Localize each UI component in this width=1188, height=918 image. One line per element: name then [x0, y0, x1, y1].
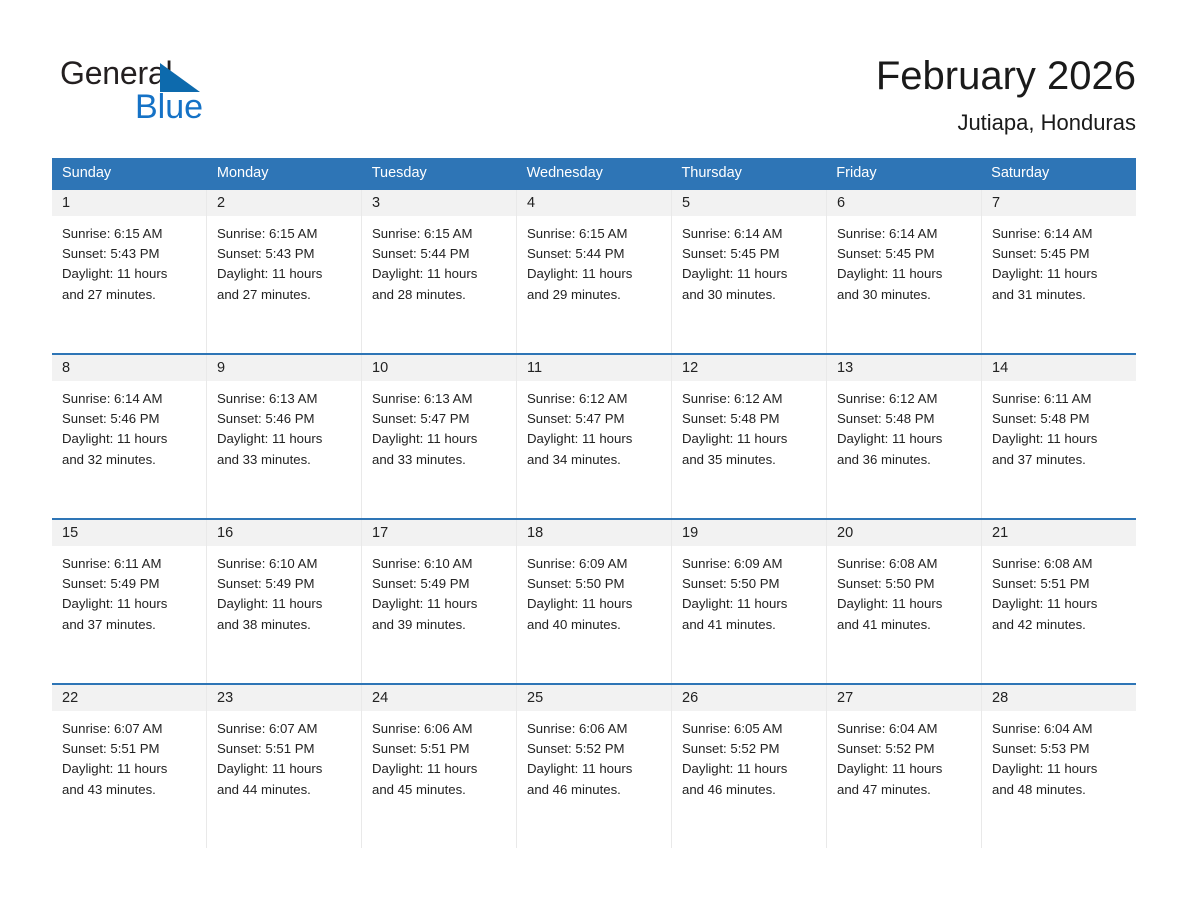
day-cell[interactable]: 16Sunrise: 6:10 AMSunset: 5:49 PMDayligh…	[207, 520, 362, 683]
daylight-text-line1: Daylight: 11 hours	[992, 429, 1128, 449]
sunrise-text: Sunrise: 6:07 AM	[217, 719, 353, 739]
day-cell[interactable]: 18Sunrise: 6:09 AMSunset: 5:50 PMDayligh…	[517, 520, 672, 683]
day-number-band: 10	[362, 355, 516, 381]
sunrise-text: Sunrise: 6:04 AM	[992, 719, 1128, 739]
day-cell[interactable]: 28Sunrise: 6:04 AMSunset: 5:53 PMDayligh…	[982, 685, 1136, 848]
sunset-text: Sunset: 5:51 PM	[217, 739, 353, 759]
sunrise-text: Sunrise: 6:15 AM	[62, 224, 198, 244]
sunrise-text: Sunrise: 6:07 AM	[62, 719, 198, 739]
sunrise-text: Sunrise: 6:06 AM	[527, 719, 663, 739]
day-number-band: 22	[52, 685, 206, 711]
day-number-band: 15	[52, 520, 206, 546]
daylight-text-line1: Daylight: 11 hours	[992, 594, 1128, 614]
daylight-text-line1: Daylight: 11 hours	[527, 264, 663, 284]
day-info: Sunrise: 6:14 AMSunset: 5:45 PMDaylight:…	[827, 216, 981, 305]
day-number: 26	[672, 685, 826, 711]
sunset-text: Sunset: 5:44 PM	[372, 244, 508, 264]
sunset-text: Sunset: 5:43 PM	[217, 244, 353, 264]
weekday-header-saturday: Saturday	[981, 158, 1136, 188]
daylight-text-line2: and 46 minutes.	[682, 780, 818, 800]
daylight-text-line1: Daylight: 11 hours	[62, 594, 198, 614]
day-cell[interactable]: 12Sunrise: 6:12 AMSunset: 5:48 PMDayligh…	[672, 355, 827, 518]
daylight-text-line1: Daylight: 11 hours	[217, 759, 353, 779]
day-number-band: 9	[207, 355, 361, 381]
daylight-text-line2: and 27 minutes.	[62, 285, 198, 305]
sunset-text: Sunset: 5:48 PM	[682, 409, 818, 429]
day-number-band: 17	[362, 520, 516, 546]
day-cell[interactable]: 9Sunrise: 6:13 AMSunset: 5:46 PMDaylight…	[207, 355, 362, 518]
daylight-text-line2: and 35 minutes.	[682, 450, 818, 470]
day-number: 5	[672, 190, 826, 216]
title-block: February 2026 Jutiapa, Honduras	[876, 50, 1136, 138]
day-info: Sunrise: 6:13 AMSunset: 5:47 PMDaylight:…	[362, 381, 516, 470]
day-number-band: 12	[672, 355, 826, 381]
sunset-text: Sunset: 5:47 PM	[527, 409, 663, 429]
day-cell[interactable]: 7Sunrise: 6:14 AMSunset: 5:45 PMDaylight…	[982, 190, 1136, 353]
day-cell[interactable]: 19Sunrise: 6:09 AMSunset: 5:50 PMDayligh…	[672, 520, 827, 683]
day-cell[interactable]: 21Sunrise: 6:08 AMSunset: 5:51 PMDayligh…	[982, 520, 1136, 683]
day-number: 23	[207, 685, 361, 711]
day-info: Sunrise: 6:09 AMSunset: 5:50 PMDaylight:…	[517, 546, 671, 635]
daylight-text-line2: and 47 minutes.	[837, 780, 973, 800]
daylight-text-line1: Daylight: 11 hours	[837, 759, 973, 779]
page-header: General Blue February 2026 Jutiapa, Hond…	[52, 42, 1136, 152]
day-info: Sunrise: 6:15 AMSunset: 5:43 PMDaylight:…	[207, 216, 361, 305]
sunrise-text: Sunrise: 6:14 AM	[837, 224, 973, 244]
day-number-band: 8	[52, 355, 206, 381]
daylight-text-line1: Daylight: 11 hours	[372, 264, 508, 284]
sunrise-text: Sunrise: 6:04 AM	[837, 719, 973, 739]
daylight-text-line2: and 36 minutes.	[837, 450, 973, 470]
day-number-band: 7	[982, 190, 1136, 216]
daylight-text-line1: Daylight: 11 hours	[372, 594, 508, 614]
day-cell[interactable]: 1Sunrise: 6:15 AMSunset: 5:43 PMDaylight…	[52, 190, 207, 353]
day-number-band: 27	[827, 685, 981, 711]
daylight-text-line1: Daylight: 11 hours	[992, 264, 1128, 284]
day-number-band: 26	[672, 685, 826, 711]
day-number-band: 11	[517, 355, 671, 381]
day-number-band: 5	[672, 190, 826, 216]
sunset-text: Sunset: 5:46 PM	[217, 409, 353, 429]
day-info: Sunrise: 6:08 AMSunset: 5:51 PMDaylight:…	[982, 546, 1136, 635]
sunrise-text: Sunrise: 6:08 AM	[837, 554, 973, 574]
day-number: 9	[207, 355, 361, 381]
day-info: Sunrise: 6:06 AMSunset: 5:51 PMDaylight:…	[362, 711, 516, 800]
day-number: 22	[52, 685, 206, 711]
day-info: Sunrise: 6:12 AMSunset: 5:48 PMDaylight:…	[827, 381, 981, 470]
week-row: 1Sunrise: 6:15 AMSunset: 5:43 PMDaylight…	[52, 188, 1136, 353]
sunrise-text: Sunrise: 6:13 AM	[217, 389, 353, 409]
daylight-text-line1: Daylight: 11 hours	[682, 594, 818, 614]
week-row: 15Sunrise: 6:11 AMSunset: 5:49 PMDayligh…	[52, 518, 1136, 683]
day-number-band: 25	[517, 685, 671, 711]
daylight-text-line2: and 28 minutes.	[372, 285, 508, 305]
weekday-header-row: Sunday Monday Tuesday Wednesday Thursday…	[52, 158, 1136, 188]
sunset-text: Sunset: 5:50 PM	[837, 574, 973, 594]
day-info: Sunrise: 6:11 AMSunset: 5:48 PMDaylight:…	[982, 381, 1136, 470]
daylight-text-line2: and 44 minutes.	[217, 780, 353, 800]
sunset-text: Sunset: 5:45 PM	[837, 244, 973, 264]
week-row: 22Sunrise: 6:07 AMSunset: 5:51 PMDayligh…	[52, 683, 1136, 848]
day-info: Sunrise: 6:08 AMSunset: 5:50 PMDaylight:…	[827, 546, 981, 635]
daylight-text-line1: Daylight: 11 hours	[527, 759, 663, 779]
day-number-band: 4	[517, 190, 671, 216]
day-number: 18	[517, 520, 671, 546]
sunrise-text: Sunrise: 6:14 AM	[62, 389, 198, 409]
day-cell[interactable]: 17Sunrise: 6:10 AMSunset: 5:49 PMDayligh…	[362, 520, 517, 683]
daylight-text-line1: Daylight: 11 hours	[372, 429, 508, 449]
day-number-band: 13	[827, 355, 981, 381]
day-number-band: 21	[982, 520, 1136, 546]
day-info: Sunrise: 6:14 AMSunset: 5:45 PMDaylight:…	[672, 216, 826, 305]
daylight-text-line1: Daylight: 11 hours	[62, 429, 198, 449]
day-number-band: 3	[362, 190, 516, 216]
daylight-text-line2: and 31 minutes.	[992, 285, 1128, 305]
day-cell[interactable]: 23Sunrise: 6:07 AMSunset: 5:51 PMDayligh…	[207, 685, 362, 848]
sunrise-text: Sunrise: 6:14 AM	[682, 224, 818, 244]
day-number: 7	[982, 190, 1136, 216]
day-cell[interactable]: 15Sunrise: 6:11 AMSunset: 5:49 PMDayligh…	[52, 520, 207, 683]
sunrise-text: Sunrise: 6:09 AM	[527, 554, 663, 574]
day-info: Sunrise: 6:04 AMSunset: 5:52 PMDaylight:…	[827, 711, 981, 800]
weekday-header-wednesday: Wednesday	[517, 158, 672, 188]
daylight-text-line2: and 39 minutes.	[372, 615, 508, 635]
sunrise-text: Sunrise: 6:12 AM	[837, 389, 973, 409]
sunset-text: Sunset: 5:51 PM	[372, 739, 508, 759]
general-blue-logo[interactable]: General Blue	[60, 56, 280, 136]
day-cell[interactable]: 8Sunrise: 6:14 AMSunset: 5:46 PMDaylight…	[52, 355, 207, 518]
sunset-text: Sunset: 5:48 PM	[992, 409, 1128, 429]
daylight-text-line1: Daylight: 11 hours	[217, 429, 353, 449]
day-number: 14	[982, 355, 1136, 381]
day-info: Sunrise: 6:04 AMSunset: 5:53 PMDaylight:…	[982, 711, 1136, 800]
weekday-header-monday: Monday	[207, 158, 362, 188]
daylight-text-line1: Daylight: 11 hours	[217, 594, 353, 614]
day-info: Sunrise: 6:14 AMSunset: 5:45 PMDaylight:…	[982, 216, 1136, 305]
day-number: 11	[517, 355, 671, 381]
calendar-grid: Sunday Monday Tuesday Wednesday Thursday…	[52, 158, 1136, 848]
day-info: Sunrise: 6:15 AMSunset: 5:44 PMDaylight:…	[362, 216, 516, 305]
sunrise-text: Sunrise: 6:15 AM	[527, 224, 663, 244]
weekday-header-tuesday: Tuesday	[362, 158, 517, 188]
day-info: Sunrise: 6:11 AMSunset: 5:49 PMDaylight:…	[52, 546, 206, 635]
day-info: Sunrise: 6:12 AMSunset: 5:47 PMDaylight:…	[517, 381, 671, 470]
day-cell[interactable]: 5Sunrise: 6:14 AMSunset: 5:45 PMDaylight…	[672, 190, 827, 353]
daylight-text-line1: Daylight: 11 hours	[837, 429, 973, 449]
sunrise-text: Sunrise: 6:11 AM	[62, 554, 198, 574]
day-info: Sunrise: 6:09 AMSunset: 5:50 PMDaylight:…	[672, 546, 826, 635]
day-info: Sunrise: 6:07 AMSunset: 5:51 PMDaylight:…	[52, 711, 206, 800]
week-row: 8Sunrise: 6:14 AMSunset: 5:46 PMDaylight…	[52, 353, 1136, 518]
day-cell[interactable]: 25Sunrise: 6:06 AMSunset: 5:52 PMDayligh…	[517, 685, 672, 848]
day-info: Sunrise: 6:07 AMSunset: 5:51 PMDaylight:…	[207, 711, 361, 800]
day-info: Sunrise: 6:14 AMSunset: 5:46 PMDaylight:…	[52, 381, 206, 470]
day-number: 4	[517, 190, 671, 216]
sunset-text: Sunset: 5:50 PM	[527, 574, 663, 594]
day-number: 3	[362, 190, 516, 216]
day-cell[interactable]: 22Sunrise: 6:07 AMSunset: 5:51 PMDayligh…	[52, 685, 207, 848]
day-cell[interactable]: 13Sunrise: 6:12 AMSunset: 5:48 PMDayligh…	[827, 355, 982, 518]
day-number: 25	[517, 685, 671, 711]
sunrise-text: Sunrise: 6:09 AM	[682, 554, 818, 574]
day-info: Sunrise: 6:05 AMSunset: 5:52 PMDaylight:…	[672, 711, 826, 800]
day-number: 28	[982, 685, 1136, 711]
sunrise-text: Sunrise: 6:11 AM	[992, 389, 1128, 409]
daylight-text-line2: and 38 minutes.	[217, 615, 353, 635]
sunset-text: Sunset: 5:45 PM	[992, 244, 1128, 264]
day-number: 17	[362, 520, 516, 546]
daylight-text-line1: Daylight: 11 hours	[527, 594, 663, 614]
day-info: Sunrise: 6:10 AMSunset: 5:49 PMDaylight:…	[362, 546, 516, 635]
sunset-text: Sunset: 5:51 PM	[62, 739, 198, 759]
day-number-band: 20	[827, 520, 981, 546]
day-number-band: 18	[517, 520, 671, 546]
day-cell[interactable]: 6Sunrise: 6:14 AMSunset: 5:45 PMDaylight…	[827, 190, 982, 353]
day-info: Sunrise: 6:06 AMSunset: 5:52 PMDaylight:…	[517, 711, 671, 800]
weekday-header-thursday: Thursday	[671, 158, 826, 188]
daylight-text-line2: and 41 minutes.	[837, 615, 973, 635]
sunset-text: Sunset: 5:49 PM	[217, 574, 353, 594]
sunrise-text: Sunrise: 6:15 AM	[217, 224, 353, 244]
day-number: 20	[827, 520, 981, 546]
day-cell[interactable]: 2Sunrise: 6:15 AMSunset: 5:43 PMDaylight…	[207, 190, 362, 353]
daylight-text-line2: and 37 minutes.	[992, 450, 1128, 470]
day-number: 6	[827, 190, 981, 216]
day-cell[interactable]: 11Sunrise: 6:12 AMSunset: 5:47 PMDayligh…	[517, 355, 672, 518]
sunset-text: Sunset: 5:52 PM	[837, 739, 973, 759]
sunrise-text: Sunrise: 6:14 AM	[992, 224, 1128, 244]
daylight-text-line1: Daylight: 11 hours	[837, 264, 973, 284]
day-number: 24	[362, 685, 516, 711]
day-info: Sunrise: 6:13 AMSunset: 5:46 PMDaylight:…	[207, 381, 361, 470]
logo-text-general: General	[60, 56, 172, 90]
daylight-text-line1: Daylight: 11 hours	[682, 264, 818, 284]
daylight-text-line2: and 48 minutes.	[992, 780, 1128, 800]
daylight-text-line1: Daylight: 11 hours	[992, 759, 1128, 779]
sunset-text: Sunset: 5:50 PM	[682, 574, 818, 594]
day-cell[interactable]: 14Sunrise: 6:11 AMSunset: 5:48 PMDayligh…	[982, 355, 1136, 518]
day-cell[interactable]: 10Sunrise: 6:13 AMSunset: 5:47 PMDayligh…	[362, 355, 517, 518]
day-number: 1	[52, 190, 206, 216]
day-info: Sunrise: 6:10 AMSunset: 5:49 PMDaylight:…	[207, 546, 361, 635]
sunrise-text: Sunrise: 6:12 AM	[682, 389, 818, 409]
daylight-text-line1: Daylight: 11 hours	[62, 264, 198, 284]
sunrise-text: Sunrise: 6:10 AM	[217, 554, 353, 574]
sunrise-text: Sunrise: 6:06 AM	[372, 719, 508, 739]
day-cell[interactable]: 20Sunrise: 6:08 AMSunset: 5:50 PMDayligh…	[827, 520, 982, 683]
daylight-text-line1: Daylight: 11 hours	[682, 759, 818, 779]
day-number: 16	[207, 520, 361, 546]
day-info: Sunrise: 6:12 AMSunset: 5:48 PMDaylight:…	[672, 381, 826, 470]
daylight-text-line1: Daylight: 11 hours	[837, 594, 973, 614]
day-number-band: 2	[207, 190, 361, 216]
day-number: 2	[207, 190, 361, 216]
day-cell[interactable]: 27Sunrise: 6:04 AMSunset: 5:52 PMDayligh…	[827, 685, 982, 848]
sunrise-text: Sunrise: 6:13 AM	[372, 389, 508, 409]
day-number: 21	[982, 520, 1136, 546]
day-cell[interactable]: 24Sunrise: 6:06 AMSunset: 5:51 PMDayligh…	[362, 685, 517, 848]
daylight-text-line2: and 42 minutes.	[992, 615, 1128, 635]
day-info: Sunrise: 6:15 AMSunset: 5:43 PMDaylight:…	[52, 216, 206, 305]
daylight-text-line2: and 45 minutes.	[372, 780, 508, 800]
sunrise-text: Sunrise: 6:05 AM	[682, 719, 818, 739]
sunset-text: Sunset: 5:44 PM	[527, 244, 663, 264]
sunset-text: Sunset: 5:45 PM	[682, 244, 818, 264]
daylight-text-line2: and 30 minutes.	[837, 285, 973, 305]
day-number-band: 19	[672, 520, 826, 546]
day-info: Sunrise: 6:15 AMSunset: 5:44 PMDaylight:…	[517, 216, 671, 305]
daylight-text-line1: Daylight: 11 hours	[527, 429, 663, 449]
sunset-text: Sunset: 5:49 PM	[62, 574, 198, 594]
day-number-band: 23	[207, 685, 361, 711]
sunrise-text: Sunrise: 6:08 AM	[992, 554, 1128, 574]
day-number: 13	[827, 355, 981, 381]
daylight-text-line2: and 32 minutes.	[62, 450, 198, 470]
daylight-text-line2: and 40 minutes.	[527, 615, 663, 635]
daylight-text-line1: Daylight: 11 hours	[372, 759, 508, 779]
daylight-text-line2: and 29 minutes.	[527, 285, 663, 305]
daylight-text-line1: Daylight: 11 hours	[217, 264, 353, 284]
sunset-text: Sunset: 5:46 PM	[62, 409, 198, 429]
sunset-text: Sunset: 5:52 PM	[682, 739, 818, 759]
day-number: 12	[672, 355, 826, 381]
sunset-text: Sunset: 5:51 PM	[992, 574, 1128, 594]
daylight-text-line2: and 27 minutes.	[217, 285, 353, 305]
weekday-header-friday: Friday	[826, 158, 981, 188]
calendar-page: General Blue February 2026 Jutiapa, Hond…	[0, 0, 1188, 918]
day-number-band: 6	[827, 190, 981, 216]
daylight-text-line2: and 43 minutes.	[62, 780, 198, 800]
day-number-band: 24	[362, 685, 516, 711]
page-title: February 2026	[876, 50, 1136, 102]
daylight-text-line2: and 30 minutes.	[682, 285, 818, 305]
daylight-text-line2: and 33 minutes.	[217, 450, 353, 470]
day-cell[interactable]: 26Sunrise: 6:05 AMSunset: 5:52 PMDayligh…	[672, 685, 827, 848]
daylight-text-line2: and 34 minutes.	[527, 450, 663, 470]
logo-text-blue: Blue	[135, 89, 203, 125]
day-cell[interactable]: 4Sunrise: 6:15 AMSunset: 5:44 PMDaylight…	[517, 190, 672, 353]
sunset-text: Sunset: 5:49 PM	[372, 574, 508, 594]
daylight-text-line2: and 46 minutes.	[527, 780, 663, 800]
day-number-band: 14	[982, 355, 1136, 381]
day-number: 15	[52, 520, 206, 546]
day-number-band: 16	[207, 520, 361, 546]
sunset-text: Sunset: 5:53 PM	[992, 739, 1128, 759]
daylight-text-line2: and 37 minutes.	[62, 615, 198, 635]
sunset-text: Sunset: 5:52 PM	[527, 739, 663, 759]
sunrise-text: Sunrise: 6:10 AM	[372, 554, 508, 574]
day-number: 19	[672, 520, 826, 546]
sunrise-text: Sunrise: 6:12 AM	[527, 389, 663, 409]
sunrise-text: Sunrise: 6:15 AM	[372, 224, 508, 244]
day-number: 27	[827, 685, 981, 711]
weekday-header-sunday: Sunday	[52, 158, 207, 188]
sunset-text: Sunset: 5:48 PM	[837, 409, 973, 429]
daylight-text-line1: Daylight: 11 hours	[62, 759, 198, 779]
page-subtitle: Jutiapa, Honduras	[876, 108, 1136, 138]
daylight-text-line1: Daylight: 11 hours	[682, 429, 818, 449]
day-number-band: 1	[52, 190, 206, 216]
day-cell[interactable]: 3Sunrise: 6:15 AMSunset: 5:44 PMDaylight…	[362, 190, 517, 353]
daylight-text-line2: and 41 minutes.	[682, 615, 818, 635]
day-number-band: 28	[982, 685, 1136, 711]
day-number: 8	[52, 355, 206, 381]
day-number: 10	[362, 355, 516, 381]
sunset-text: Sunset: 5:43 PM	[62, 244, 198, 264]
sunset-text: Sunset: 5:47 PM	[372, 409, 508, 429]
daylight-text-line2: and 33 minutes.	[372, 450, 508, 470]
